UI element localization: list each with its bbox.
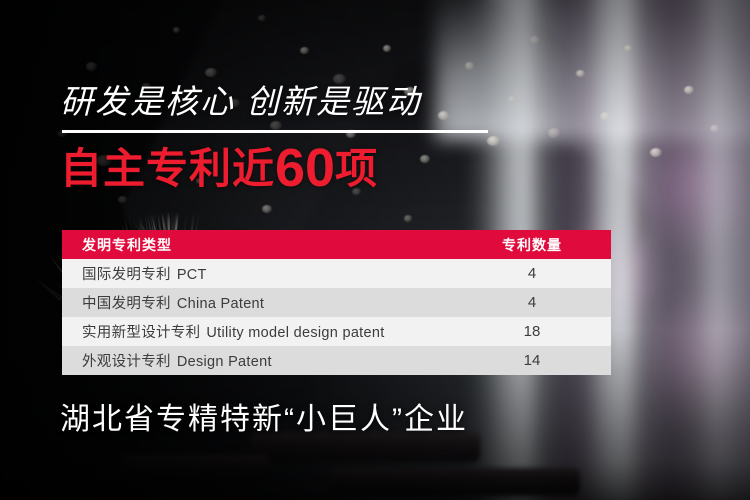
patent-type-en: PCT bbox=[177, 267, 207, 283]
patent-type-cn: 国际发明专利 bbox=[82, 267, 171, 283]
table-row: 实用新型设计专利Utility model design patent18 bbox=[62, 317, 611, 346]
column-header-type: 发明专利类型 bbox=[62, 235, 461, 255]
cell-patent-count: 14 bbox=[461, 352, 611, 369]
patent-type-en: Utility model design patent bbox=[206, 325, 384, 341]
headline-top: 研发是核心 创新是驱动 bbox=[60, 82, 421, 122]
headline-main-number: 60 bbox=[275, 138, 335, 198]
cell-patent-type: 中国发明专利China Patent bbox=[62, 292, 461, 313]
banner-content: 研发是核心 创新是驱动 自主专利近60项 发明专利类型 专利数量 国际发明专利P… bbox=[0, 0, 750, 500]
headline-divider-rule bbox=[62, 130, 488, 133]
table-row: 中国发明专利China Patent4 bbox=[62, 288, 611, 317]
cell-patent-type: 国际发明专利PCT bbox=[62, 263, 461, 284]
patent-table: 发明专利类型 专利数量 国际发明专利PCT4中国发明专利China Patent… bbox=[62, 230, 611, 375]
column-header-count: 专利数量 bbox=[461, 235, 611, 255]
headline-main: 自主专利近60项 bbox=[60, 142, 378, 195]
patent-type-cn: 中国发明专利 bbox=[82, 296, 171, 312]
cell-patent-count: 4 bbox=[461, 265, 611, 282]
table-body: 国际发明专利PCT4中国发明专利China Patent4实用新型设计专利Uti… bbox=[62, 259, 611, 375]
table-header-row: 发明专利类型 专利数量 bbox=[62, 230, 611, 259]
table-row: 国际发明专利PCT4 bbox=[62, 259, 611, 288]
cell-patent-type: 实用新型设计专利Utility model design patent bbox=[62, 321, 461, 342]
table-row: 外观设计专利Design Patent14 bbox=[62, 346, 611, 375]
patent-statistics-banner: 研发是核心 创新是驱动 自主专利近60项 发明专利类型 专利数量 国际发明专利P… bbox=[0, 0, 750, 500]
headline-main-suffix: 项 bbox=[335, 145, 378, 192]
cell-patent-count: 4 bbox=[461, 294, 611, 311]
cell-patent-type: 外观设计专利Design Patent bbox=[62, 350, 461, 371]
patent-type-cn: 实用新型设计专利 bbox=[82, 325, 200, 341]
patent-type-en: Design Patent bbox=[177, 354, 272, 370]
cell-patent-count: 18 bbox=[461, 323, 611, 340]
patent-type-en: China Patent bbox=[177, 296, 264, 312]
patent-type-cn: 外观设计专利 bbox=[82, 354, 171, 370]
headline-bottom: 湖北省专精特新“小巨人”企业 bbox=[60, 400, 468, 440]
headline-main-prefix: 自主专利近 bbox=[60, 145, 275, 192]
